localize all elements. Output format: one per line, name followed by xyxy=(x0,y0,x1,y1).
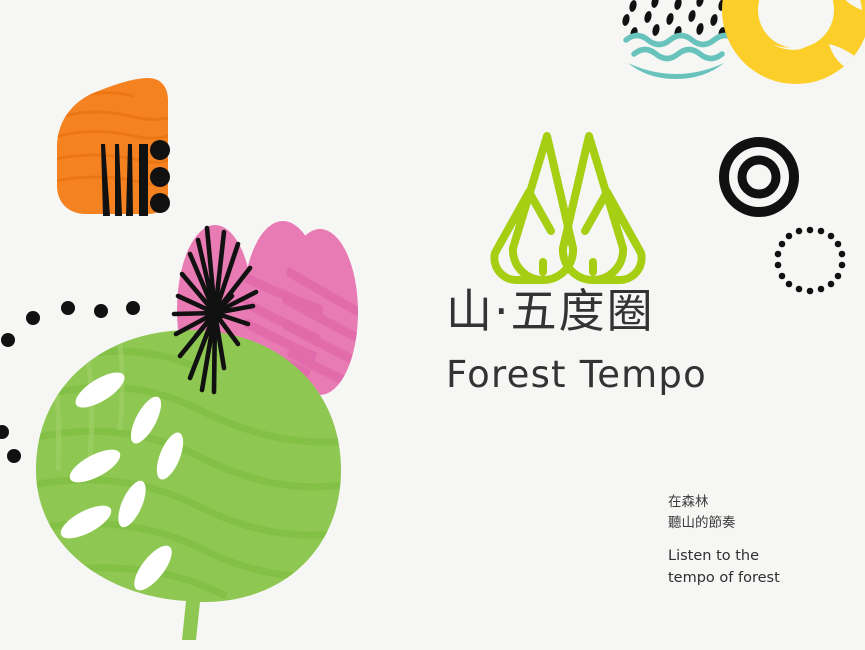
black-starburst-icon xyxy=(174,228,256,392)
green-leaf-texture-light xyxy=(56,344,122,470)
teal-bowl-icon xyxy=(628,63,724,79)
tagline-en-line-2: tempo of forest xyxy=(668,567,780,589)
dotted-arc-icon xyxy=(0,301,140,463)
orange-blob xyxy=(57,78,168,214)
green-leaf-texture xyxy=(26,351,350,596)
brand-title-cn: 山·五度圈 xyxy=(446,288,655,334)
pink-ellipse-1 xyxy=(177,225,253,395)
green-leaf-cutouts xyxy=(56,366,189,596)
forest-logo-mark-icon xyxy=(494,136,641,280)
yellow-ring-crescents xyxy=(716,0,865,122)
rain-dots-icon xyxy=(621,0,740,40)
pink-ellipse-2 xyxy=(243,221,323,395)
dotted-circle-icon xyxy=(775,227,846,295)
orange-texture xyxy=(50,93,178,184)
yellow-ring-group xyxy=(716,0,865,122)
rain-cloud-waves-group xyxy=(621,0,740,79)
tagline-cn-line-2: 聽山的節奏 xyxy=(668,513,736,534)
orange-dots xyxy=(150,140,170,213)
green-leaf-shape xyxy=(36,330,341,640)
pink-texture-3 xyxy=(280,268,366,388)
pink-ellipse-3 xyxy=(282,229,358,395)
black-concentric-rings-icon xyxy=(724,142,794,212)
tagline-en-line-1: Listen to the xyxy=(668,545,780,567)
orange-accordion-shape xyxy=(50,78,178,216)
brand-title-en: Forest Tempo xyxy=(446,356,707,395)
green-leaf-group xyxy=(26,330,350,640)
yellow-donut-icon xyxy=(722,0,865,84)
teal-waves-icon xyxy=(626,36,736,59)
tagline-chinese: 在森林 聽山的節奏 xyxy=(668,492,736,534)
tagline-cn-line-1: 在森林 xyxy=(668,492,736,513)
poster-canvas: 山·五度圈 Forest Tempo 在森林 聽山的節奏 Listen to t… xyxy=(0,0,865,650)
pink-texture-2 xyxy=(240,278,332,382)
pink-ellipse-trio xyxy=(177,221,366,396)
orange-bars xyxy=(101,144,148,216)
tagline-english: Listen to the tempo of forest xyxy=(668,545,780,589)
pink-texture-1 xyxy=(180,340,254,396)
